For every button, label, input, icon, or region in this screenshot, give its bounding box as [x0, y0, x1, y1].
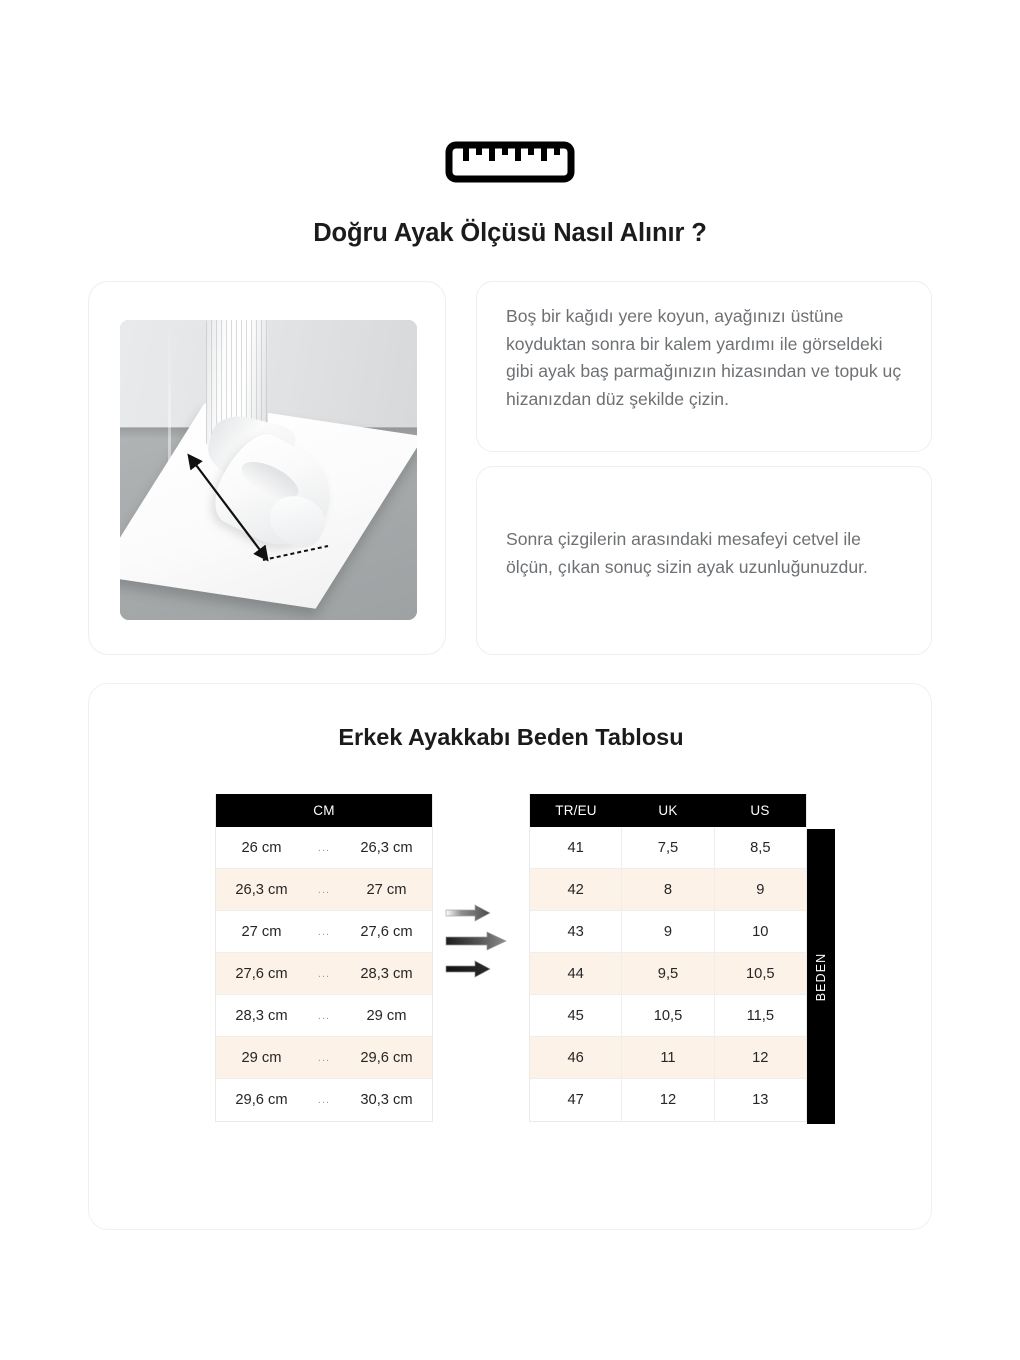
cm-high: 26,3 cm	[341, 840, 432, 856]
size-us: 9	[715, 869, 806, 910]
cm-high: 29 cm	[341, 1008, 432, 1024]
table-row: 26 cm ... 26,3 cm	[216, 827, 432, 869]
cm-table: CM 26 cm ... 26,3 cm 26,3 cm ... 27 cm 2…	[215, 794, 433, 1122]
size-uk: 7,5	[622, 827, 714, 868]
page-title: Doğru Ayak Ölçüsü Nasıl Alınır ?	[0, 219, 1020, 248]
table-row: 44 9,5 10,5	[530, 953, 806, 995]
table-row: 43 9 10	[530, 911, 806, 953]
size-treu: 45	[530, 995, 622, 1036]
size-uk: 9	[622, 911, 714, 952]
arrow-right-icon	[445, 931, 507, 951]
table-row: 27,6 cm ... 28,3 cm	[216, 953, 432, 995]
size-treu: 44	[530, 953, 622, 994]
size-treu: 43	[530, 911, 622, 952]
cm-low: 26 cm	[216, 840, 307, 856]
cm-high: 29,6 cm	[341, 1050, 432, 1066]
cm-low: 29 cm	[216, 1050, 307, 1066]
size-header-treu: TR/EU	[530, 794, 622, 827]
cm-low: 27,6 cm	[216, 966, 307, 982]
beden-label: BEDEN	[814, 952, 828, 1001]
table-row: 42 8 9	[530, 869, 806, 911]
size-uk: 9,5	[622, 953, 714, 994]
table-row: 28,3 cm ... 29 cm	[216, 995, 432, 1037]
size-us: 13	[715, 1079, 806, 1121]
size-chart-title: Erkek Ayakkabı Beden Tablosu	[89, 724, 933, 751]
beden-vertical-bar: BEDEN	[807, 829, 835, 1124]
table-row: 29,6 cm ... 30,3 cm	[216, 1079, 432, 1121]
table-row: 47 12 13	[530, 1079, 806, 1121]
size-uk: 11	[622, 1037, 714, 1078]
size-chart-card: Erkek Ayakkabı Beden Tablosu CM 26 cm ..…	[88, 683, 932, 1230]
cm-low: 29,6 cm	[216, 1092, 307, 1108]
size-treu: 41	[530, 827, 622, 868]
cm-high: 27,6 cm	[341, 924, 432, 940]
size-header-us: US	[714, 794, 806, 827]
size-us: 12	[715, 1037, 806, 1078]
cm-low: 28,3 cm	[216, 1008, 307, 1024]
instruction-card-2: Sonra çizgilerin arasındaki mesafeyi cet…	[476, 466, 932, 655]
cm-dots: ...	[307, 1010, 341, 1022]
size-table-header: TR/EU UK US	[530, 794, 806, 827]
table-row: 45 10,5 11,5	[530, 995, 806, 1037]
ruler-icon	[445, 140, 575, 184]
cm-dots: ...	[307, 884, 341, 896]
table-row: 29 cm ... 29,6 cm	[216, 1037, 432, 1079]
size-chart-tables: CM 26 cm ... 26,3 cm 26,3 cm ... 27 cm 2…	[89, 794, 933, 1122]
size-uk: 8	[622, 869, 714, 910]
table-row: 46 11 12	[530, 1037, 806, 1079]
size-treu: 47	[530, 1079, 622, 1121]
size-us: 10	[715, 911, 806, 952]
measurement-arrow-icon	[120, 320, 417, 620]
instruction-photo-card	[88, 281, 446, 655]
table-row: 27 cm ... 27,6 cm	[216, 911, 432, 953]
table-row: 26,3 cm ... 27 cm	[216, 869, 432, 911]
table-row: 41 7,5 8,5	[530, 827, 806, 869]
cm-dots: ...	[307, 926, 341, 938]
size-us: 10,5	[715, 953, 806, 994]
instruction-text-1: Boş bir kağıdı yere koyun, ayağınızı üst…	[477, 282, 931, 413]
size-us: 11,5	[715, 995, 806, 1036]
cm-high: 30,3 cm	[341, 1092, 432, 1108]
size-header-uk: UK	[622, 794, 714, 827]
arrow-right-icon	[445, 960, 491, 978]
size-treu: 42	[530, 869, 622, 910]
instruction-card-1: Boş bir kağıdı yere koyun, ayağınızı üst…	[476, 281, 932, 452]
cm-low: 26,3 cm	[216, 882, 307, 898]
instruction-text-2: Sonra çizgilerin arasındaki mesafeyi cet…	[477, 467, 931, 581]
size-us: 8,5	[715, 827, 806, 868]
cm-high: 28,3 cm	[341, 966, 432, 982]
cm-dots: ...	[307, 1094, 341, 1106]
cm-low: 27 cm	[216, 924, 307, 940]
ruler-icon-container	[0, 140, 1020, 184]
conversion-arrows	[433, 794, 529, 978]
arrow-right-icon	[445, 904, 491, 922]
cm-high: 27 cm	[341, 882, 432, 898]
size-uk: 12	[622, 1079, 714, 1121]
size-treu: 46	[530, 1037, 622, 1078]
cm-table-header: CM	[216, 794, 432, 827]
size-table: TR/EU UK US 41 7,5 8,5 42 8 9 43 9	[529, 794, 807, 1122]
size-table-wrapper: TR/EU UK US 41 7,5 8,5 42 8 9 43 9	[529, 794, 807, 1122]
foot-measurement-photo	[120, 320, 417, 620]
size-uk: 10,5	[622, 995, 714, 1036]
cm-dots: ...	[307, 1052, 341, 1064]
cm-dots: ...	[307, 968, 341, 980]
cm-dots: ...	[307, 842, 341, 854]
